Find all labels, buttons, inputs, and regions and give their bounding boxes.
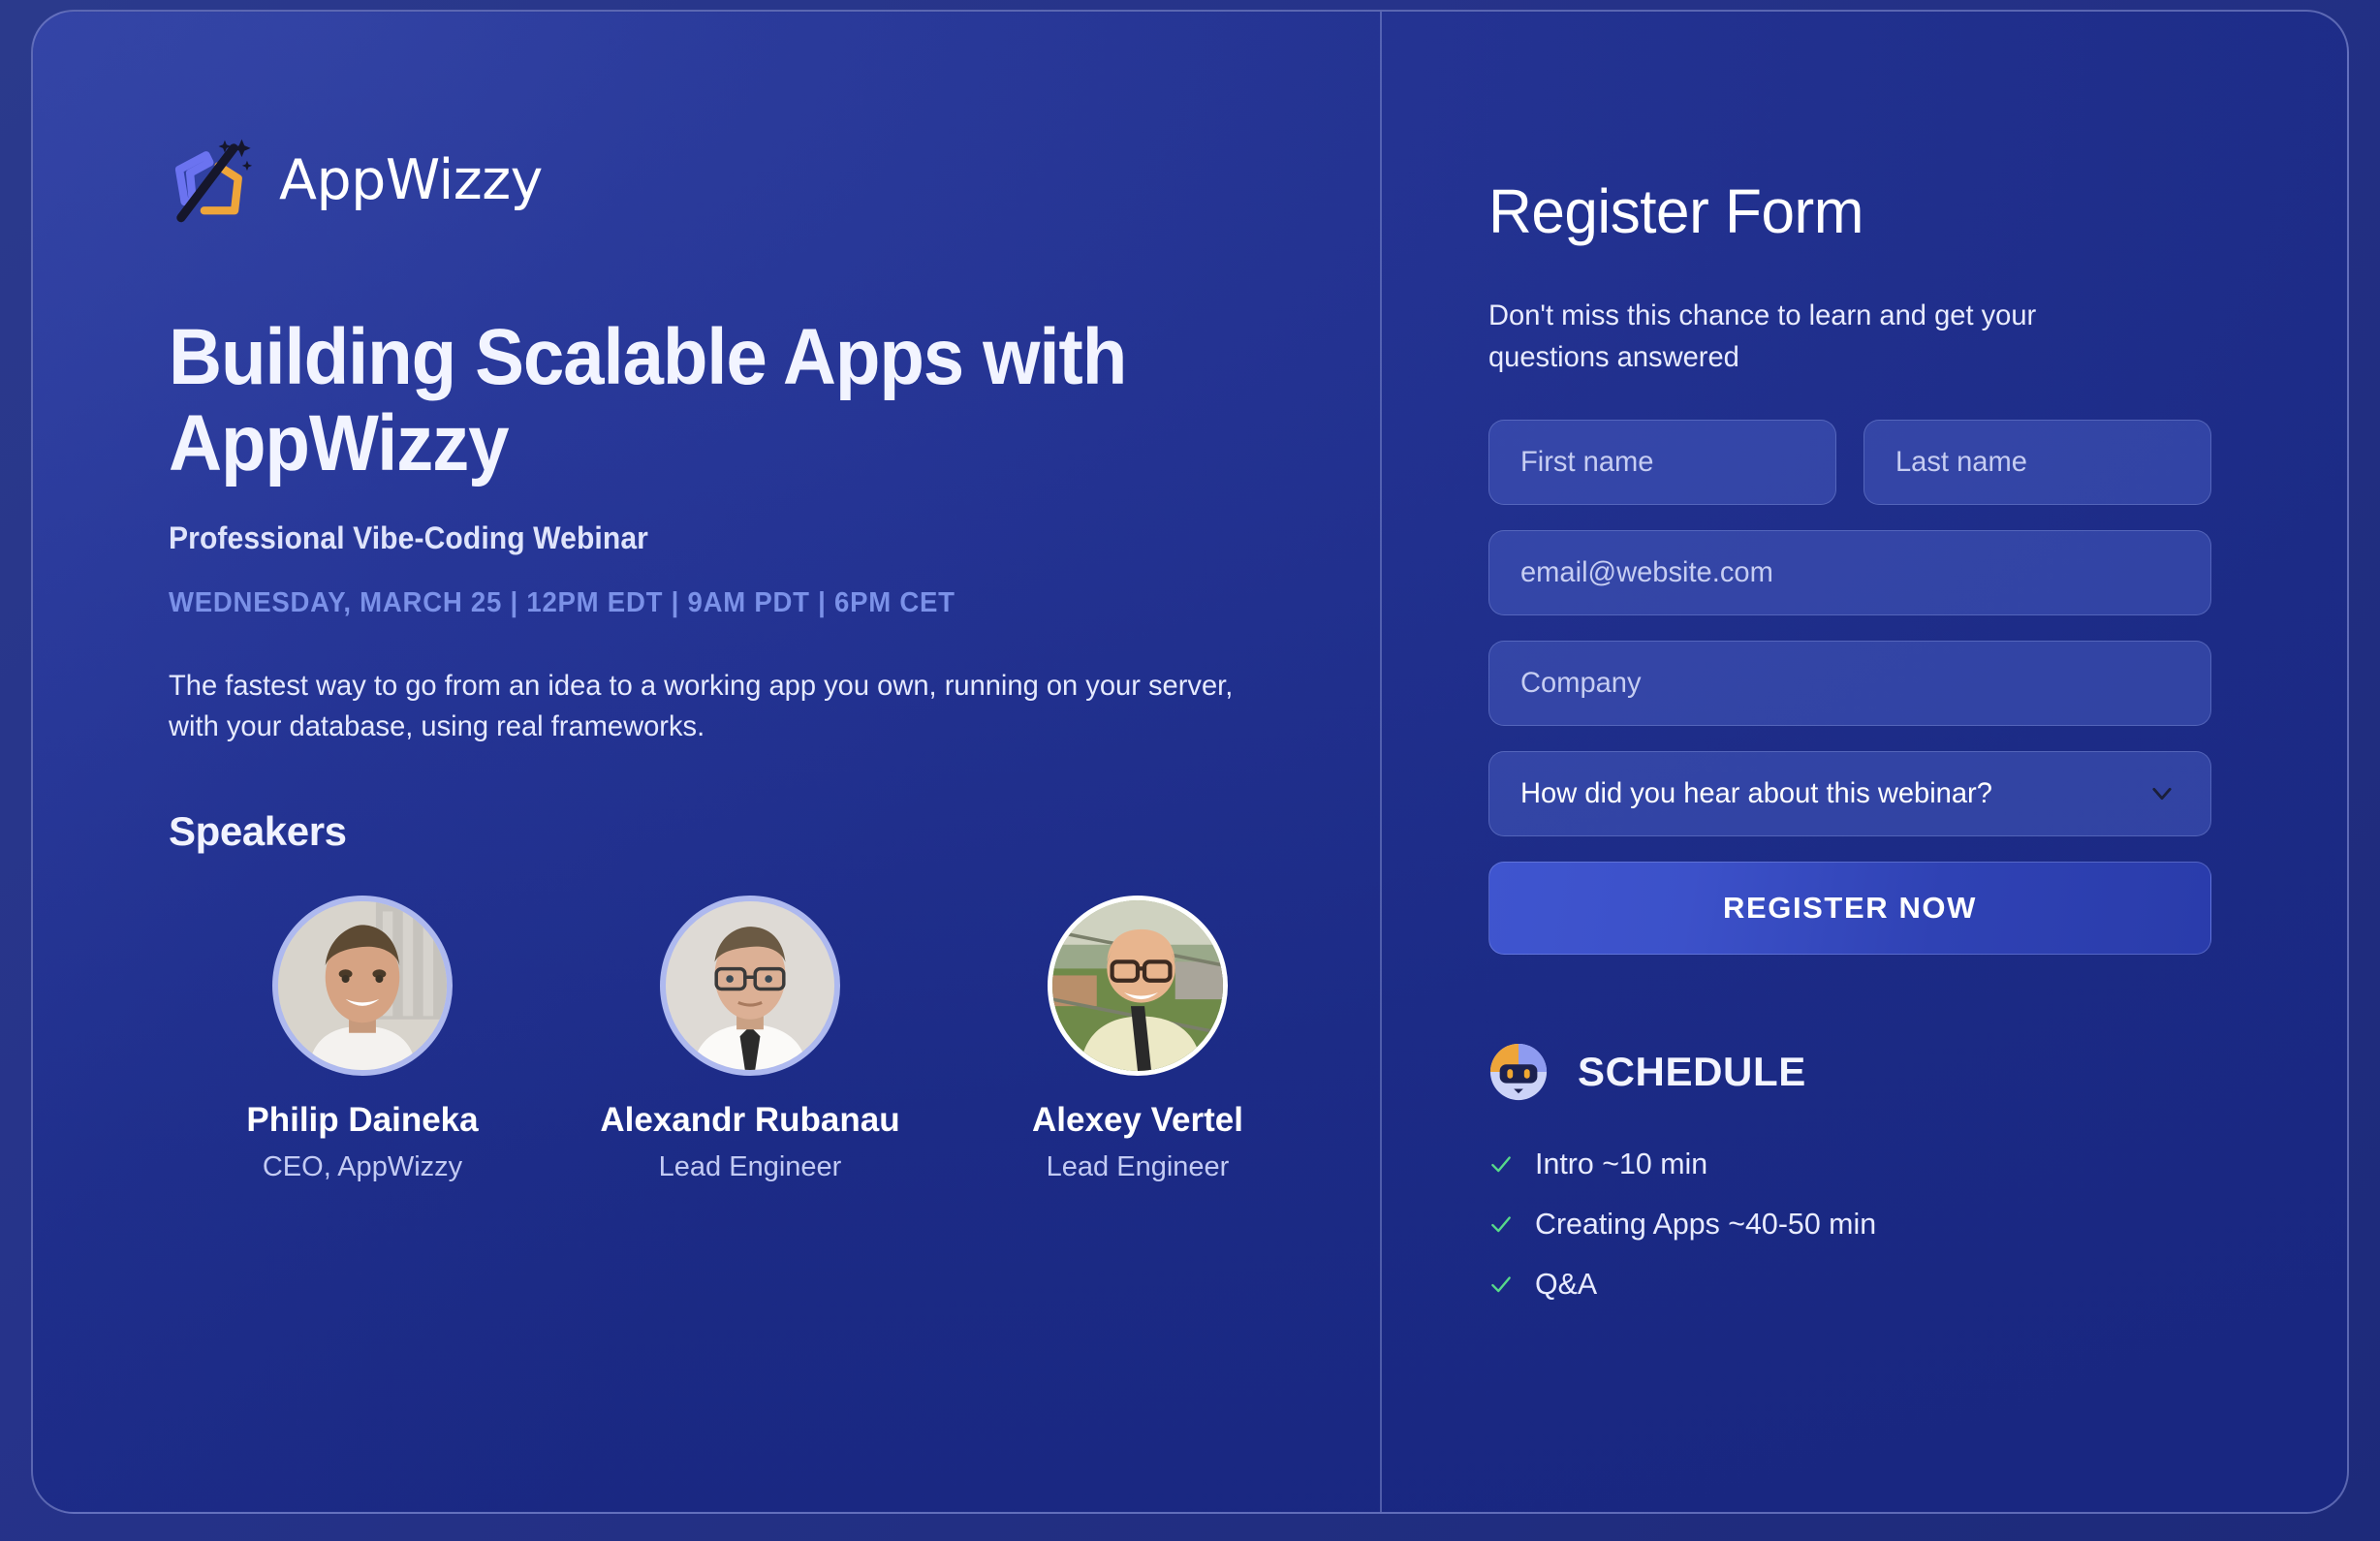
- name-field-row: First name Last name: [1488, 420, 2211, 530]
- schedule-item: Intro ~10 min: [1488, 1147, 2211, 1181]
- register-now-button[interactable]: REGISTER NOW: [1488, 862, 2211, 955]
- schedule-list: Intro ~10 min Creating Apps ~40-50 min Q…: [1488, 1147, 2211, 1302]
- speakers-list: Philip Daineka CEO, AppWizzy: [169, 896, 1380, 1183]
- speaker-role: Lead Engineer: [944, 1151, 1331, 1183]
- speakers-heading: Speakers: [169, 808, 1380, 855]
- register-now-label: REGISTER NOW: [1723, 891, 1977, 926]
- avatar: [272, 896, 453, 1076]
- check-icon: [1488, 1211, 1514, 1237]
- page-title: Building Scalable Apps with AppWizzy: [169, 314, 1232, 487]
- webinar-landing-page: AppWizzy Building Scalable Apps with App…: [0, 0, 2380, 1541]
- last-name-placeholder: Last name: [1895, 446, 2027, 479]
- referral-source-value: How did you hear about this webinar?: [1520, 777, 1992, 810]
- speaker-card: Alexandr Rubanau Lead Engineer: [556, 896, 944, 1183]
- brand-logo[interactable]: AppWizzy: [169, 136, 1380, 225]
- speaker-card: Alexey Vertel Lead Engineer: [944, 896, 1331, 1183]
- schedule-item-label: Creating Apps ~40-50 min: [1535, 1207, 1876, 1242]
- speaker-name: Philip Daineka: [169, 1101, 556, 1140]
- speaker-avatar-photo-icon: [666, 901, 834, 1070]
- schedule-item-label: Q&A: [1535, 1267, 1597, 1302]
- event-description: The fastest way to go from an idea to a …: [169, 666, 1264, 748]
- schedule-item: Creating Apps ~40-50 min: [1488, 1207, 2211, 1242]
- main-card: AppWizzy Building Scalable Apps with App…: [31, 10, 2349, 1514]
- speaker-card: Philip Daineka CEO, AppWizzy: [169, 896, 556, 1183]
- register-form-subtitle: Don't miss this chance to learn and get …: [1488, 296, 2146, 378]
- schedule-item-label: Intro ~10 min: [1535, 1147, 1707, 1181]
- chevron-down-icon: [2148, 780, 2176, 807]
- email-placeholder: email@website.com: [1520, 556, 1773, 589]
- event-datetime: WEDNESDAY, MARCH 25 | 12PM EDT | 9AM PDT…: [169, 587, 1320, 619]
- schedule-title: SCHEDULE: [1578, 1049, 1806, 1095]
- schedule-header: SCHEDULE: [1488, 1042, 2211, 1102]
- avatar: [1048, 896, 1228, 1076]
- email-input[interactable]: email@website.com: [1488, 530, 2211, 615]
- first-name-input[interactable]: First name: [1488, 420, 1836, 505]
- robot-avatar-icon: [1488, 1042, 1549, 1102]
- left-content-panel: AppWizzy Building Scalable Apps with App…: [33, 12, 1382, 1512]
- speaker-name: Alexandr Rubanau: [556, 1101, 944, 1140]
- speaker-name: Alexey Vertel: [944, 1101, 1331, 1140]
- speaker-role: Lead Engineer: [556, 1151, 944, 1183]
- speaker-avatar-photo-icon: [1052, 900, 1223, 1071]
- appwizzy-wand-logo-icon: [169, 136, 258, 225]
- speaker-role: CEO, AppWizzy: [169, 1151, 556, 1183]
- schedule-item: Q&A: [1488, 1267, 2211, 1302]
- page-subtitle: Professional Vibe-Coding Webinar: [169, 520, 1307, 556]
- company-placeholder: Company: [1520, 667, 1642, 700]
- referral-source-select[interactable]: How did you hear about this webinar?: [1488, 751, 2211, 836]
- company-input[interactable]: Company: [1488, 641, 2211, 726]
- check-icon: [1488, 1272, 1514, 1297]
- register-panel: Register Form Don't miss this chance to …: [1382, 12, 2347, 1512]
- registration-form: First name Last name email@website.com C…: [1488, 420, 2211, 955]
- brand-name: AppWizzy: [279, 153, 543, 208]
- check-icon: [1488, 1151, 1514, 1177]
- register-form-title: Register Form: [1488, 179, 2190, 244]
- speaker-avatar-photo-icon: [278, 901, 447, 1070]
- last-name-input[interactable]: Last name: [1863, 420, 2211, 505]
- first-name-placeholder: First name: [1520, 446, 1653, 479]
- avatar: [660, 896, 840, 1076]
